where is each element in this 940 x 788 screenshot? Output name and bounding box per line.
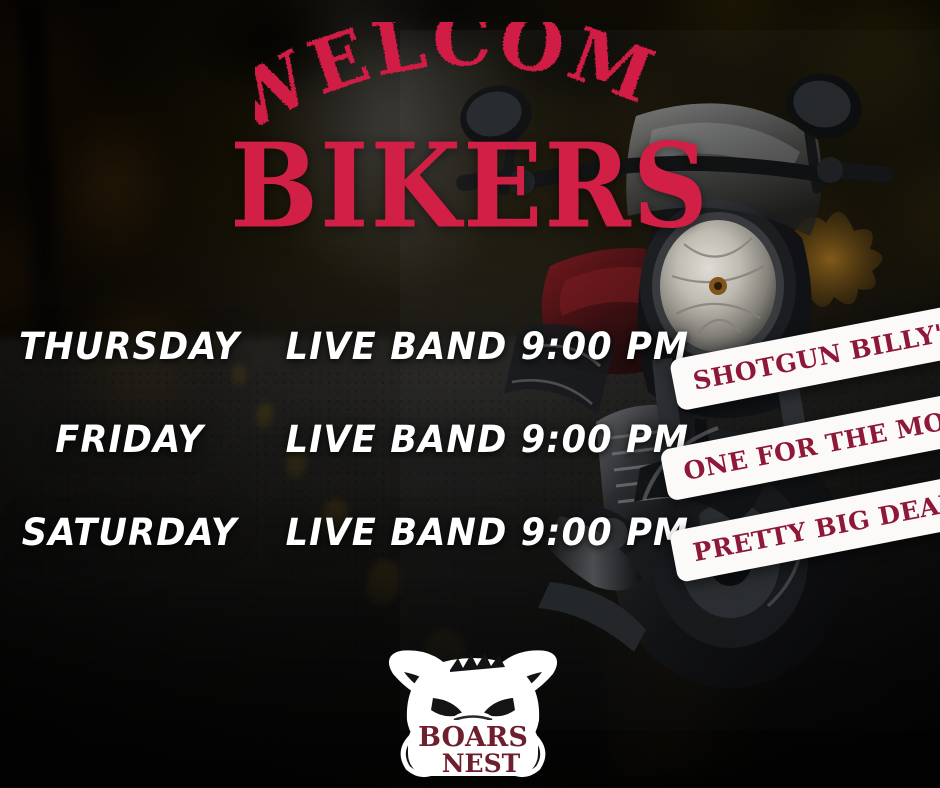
schedule-day-label: THURSDAY — [6, 325, 252, 368]
poster-canvas: WELCOME BIKERS THURSDAY LIVE BAND 9:00 P… — [0, 0, 940, 788]
schedule-day-label: FRIDAY — [6, 418, 252, 461]
schedule-row-friday: FRIDAY LIVE BAND 9:00 PM — [0, 393, 700, 486]
schedule-day-label: SATURDAY — [6, 511, 252, 554]
boars-nest-logo: BOARS NEST — [378, 642, 568, 782]
schedule-slot-label: LIVE BAND 9:00 PM — [286, 418, 690, 461]
schedule-row-thursday: THURSDAY LIVE BAND 9:00 PM — [0, 300, 700, 393]
schedule-row-saturday: SATURDAY LIVE BAND 9:00 PM — [0, 486, 700, 579]
schedule-list: THURSDAY LIVE BAND 9:00 PM FRIDAY LIVE B… — [0, 300, 700, 579]
logo-line-2: NEST — [442, 749, 521, 778]
schedule-slot-label: LIVE BAND 9:00 PM — [286, 325, 690, 368]
schedule-slot-label: LIVE BAND 9:00 PM — [286, 511, 690, 554]
